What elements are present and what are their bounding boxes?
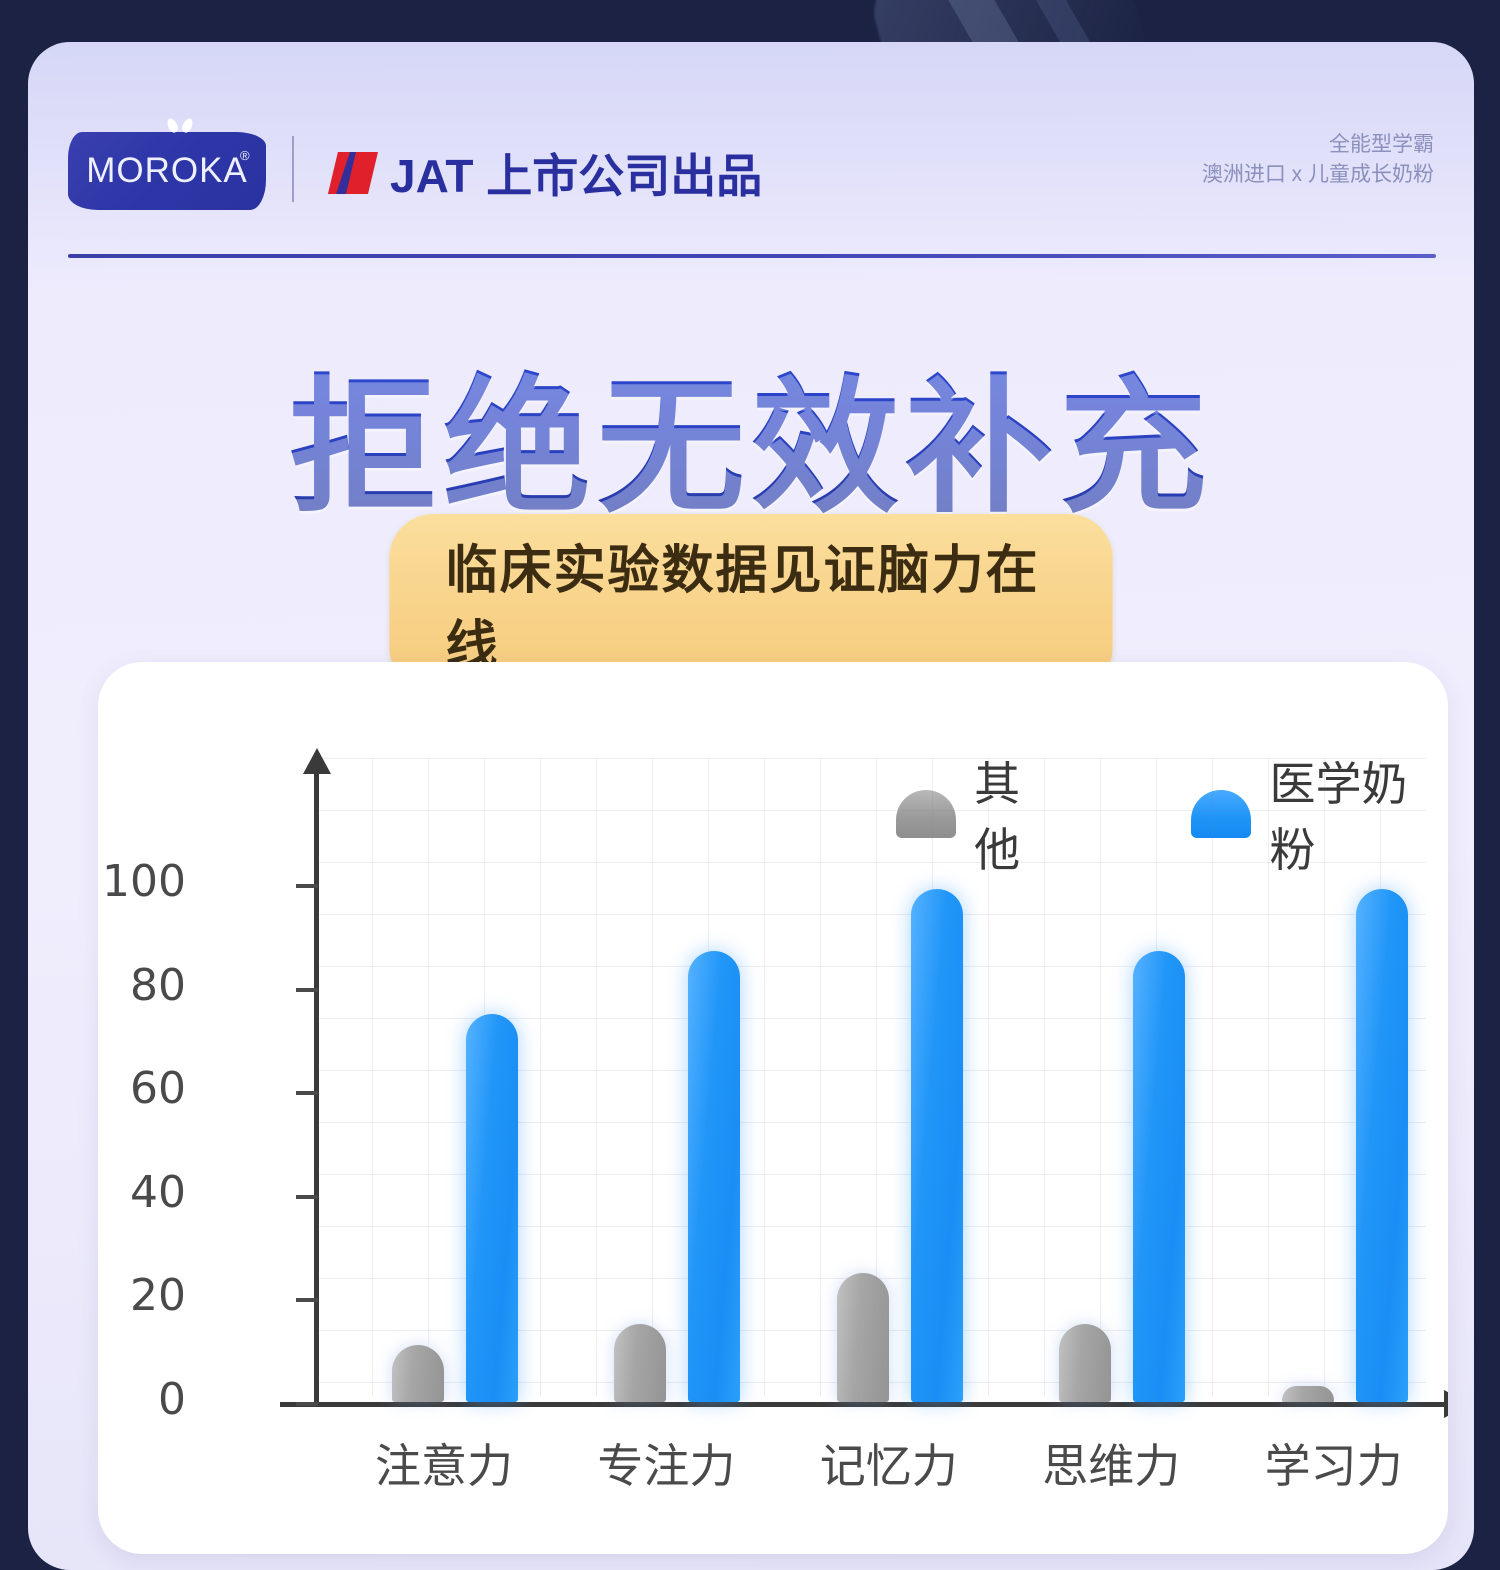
brand-header: MOROKA ® JAT 上市公司出品 全能型学霸 澳洲进口 x 儿童成长奶粉 — [68, 128, 1434, 238]
bar-medical-0 — [466, 1014, 518, 1403]
tagline-line-2: 澳洲进口 x 儿童成长奶粉 — [1202, 160, 1434, 190]
y-tick — [296, 1195, 318, 1199]
y-tick-label: 20 — [98, 1270, 186, 1321]
chart-bars — [316, 662, 1428, 1407]
moroka-logo-badge: MOROKA ® — [68, 132, 266, 210]
jat-partner-label: JAT 上市公司出品 — [390, 140, 762, 206]
y-tick-label: 60 — [98, 1063, 186, 1114]
bar-other-0 — [392, 1345, 444, 1402]
bar-medical-2 — [911, 889, 963, 1402]
bar-group — [983, 662, 1205, 1407]
bar-group — [538, 662, 760, 1407]
y-tick — [296, 1402, 318, 1406]
bar-group — [1206, 662, 1428, 1407]
y-tick-label: 80 — [98, 960, 186, 1011]
jat-partner-block: JAT 上市公司出品 — [326, 140, 762, 206]
x-axis-label: 注意力 — [375, 1430, 513, 1496]
promo-card: MOROKA ® JAT 上市公司出品 全能型学霸 澳洲进口 x 儿童成长奶粉 … — [28, 42, 1474, 1570]
bar-other-1 — [614, 1324, 666, 1402]
bar-medical-3 — [1133, 951, 1185, 1402]
y-tick — [296, 1298, 318, 1302]
y-tick — [296, 988, 318, 992]
x-axis-label: 思维力 — [1042, 1430, 1180, 1496]
tagline-line-1: 全能型学霸 — [1202, 130, 1434, 160]
x-axis-arrow-icon — [1444, 1390, 1448, 1418]
chart-card: 其他医学奶粉 020406080100 注意力专注力记忆力思维力学习力 — [98, 662, 1448, 1554]
bar-other-4 — [1282, 1386, 1334, 1402]
moroka-leaf-icon — [164, 118, 198, 134]
y-tick — [296, 884, 318, 888]
bar-other-2 — [837, 1273, 889, 1403]
brand-tagline: 全能型学霸 澳洲进口 x 儿童成长奶粉 — [1202, 130, 1434, 191]
y-tick-label: 100 — [98, 856, 186, 907]
y-tick-label: 40 — [98, 1167, 186, 1218]
header-rule — [68, 254, 1436, 258]
jat-parallelogram-icon — [326, 150, 380, 196]
moroka-logo-text: MOROKA — [86, 151, 248, 191]
y-tick — [296, 1091, 318, 1095]
bar-medical-4 — [1356, 889, 1408, 1402]
header-divider — [292, 136, 294, 202]
y-tick-label: 0 — [98, 1374, 186, 1425]
page-title: 拒绝无效补充 — [28, 326, 1474, 541]
bar-medical-1 — [688, 951, 740, 1402]
bar-group — [761, 662, 983, 1407]
x-axis-label: 记忆力 — [820, 1430, 958, 1496]
bar-other-3 — [1059, 1324, 1111, 1402]
x-axis-labels: 注意力专注力记忆力思维力学习力 — [316, 1430, 1428, 1500]
x-axis-label: 专注力 — [597, 1430, 735, 1496]
x-axis-label: 学习力 — [1265, 1430, 1403, 1496]
bar-group — [316, 662, 538, 1407]
registered-mark-icon: ® — [240, 148, 279, 163]
